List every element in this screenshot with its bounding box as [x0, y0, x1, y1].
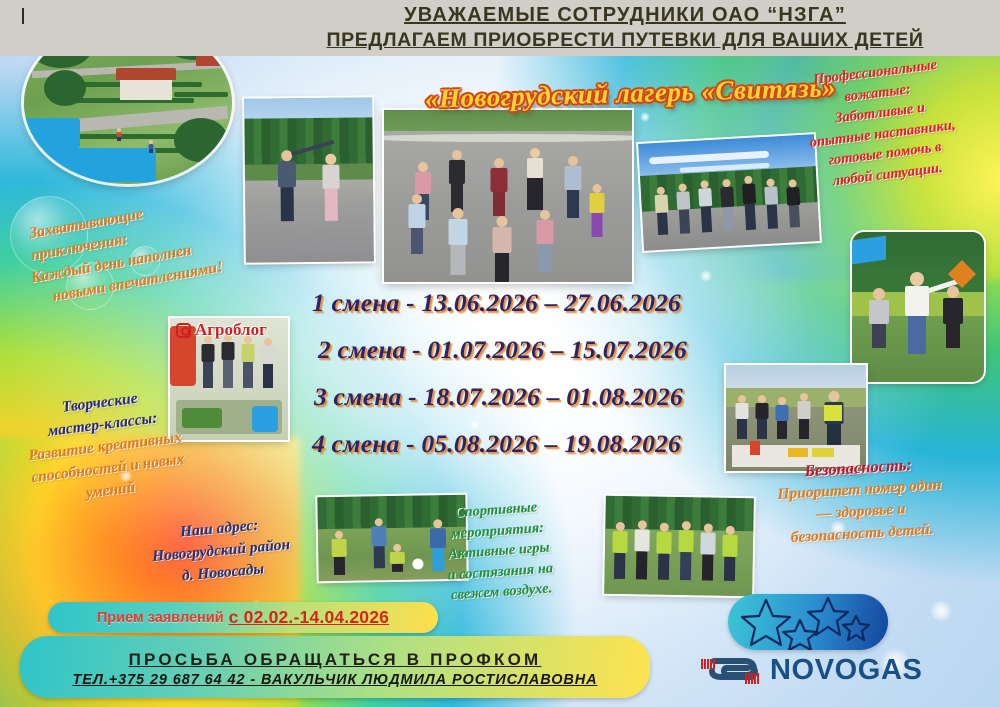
header-title: УВАЖАЕМЫЕ СОТРУДНИКИ ОАО “НЗГА” ПРЕДЛАГА…	[250, 3, 1000, 53]
star-icon	[843, 616, 869, 640]
blurb-sports-activities: Спортивные мероприятия: Активные игры и …	[443, 496, 556, 606]
applications-dates: с 02.02.-14.04.2026	[229, 607, 389, 628]
contact-phone-line: ТЕЛ.+375 29 687 64 42 - ВАКУЛЬЧИК ЛЮДМИЛ…	[72, 672, 597, 688]
header-line-1: УВАЖАЕМЫЕ СОТРУДНИКИ ОАО “НЗГА”	[250, 3, 1000, 28]
blurb-safety: Безопасность: Приоритет номер один — здо…	[775, 451, 945, 550]
novogas-name: NOVOGAS	[770, 654, 922, 687]
novogas-logo: NOVOGAS	[700, 594, 922, 687]
applications-prefix: Прием заявлений	[97, 610, 224, 626]
header-line-2: ПРЕДЛАГАЕМ ПРИОБРЕСТИ ПУТЕВКИ ДЛЯ ВАШИХ …	[250, 28, 1000, 53]
photo-children-lined-up	[638, 134, 820, 251]
photo-safety-demonstration	[726, 365, 866, 471]
camp-poster: Агроблог «Новогрудский лагерь «Свитязь» …	[0, 0, 1000, 707]
text-cursor	[22, 8, 24, 24]
photo-counselor-with-children	[852, 232, 984, 382]
shift-row: 1 смена - 13.06.2026 – 27.06.2026	[312, 288, 687, 318]
shift-row: 4 смена - 05.08.2026 – 19.08.2026	[312, 429, 687, 459]
star-icon	[742, 600, 790, 645]
shift-row: 3 смена - 18.07.2026 – 01.08.2026	[314, 382, 687, 412]
contact-heading: ПРОСЬБА ОБРАЩАТЬСЯ В ПРОФКОМ	[129, 650, 542, 670]
agroblog-badge: Агроблог	[176, 320, 267, 340]
agroblog-label: Агроблог	[195, 320, 267, 340]
blurb-creative-workshops: Творческие мастер-классы: Развитие креат…	[22, 383, 189, 511]
shift-row: 2 смена - 01.07.2026 – 15.07.2026	[318, 335, 687, 365]
novogas-wordmark: NOVOGAS	[700, 654, 922, 687]
novogas-stars-badge	[728, 594, 888, 650]
star-icon	[783, 620, 817, 650]
contact-banner: ПРОСЬБА ОБРАЩАТЬСЯ В ПРОФКОМ ТЕЛ.+375 29…	[20, 636, 650, 698]
instagram-icon	[176, 323, 191, 338]
photo-children-holding-hands-circle	[384, 110, 632, 282]
shift-schedule-list: 1 смена - 13.06.2026 – 27.06.2026 2 смен…	[312, 288, 687, 476]
star-icon	[808, 598, 848, 635]
applications-period-banner: Прием заявлений с 02.02.-14.04.2026	[48, 602, 438, 633]
novogas-mark-icon	[700, 655, 762, 687]
photo-children-skating	[244, 97, 374, 262]
photo-sports-team-green-vests	[604, 496, 754, 597]
blurb-address: Наш адрес: Новогрудский район д. Новосад…	[149, 512, 293, 590]
